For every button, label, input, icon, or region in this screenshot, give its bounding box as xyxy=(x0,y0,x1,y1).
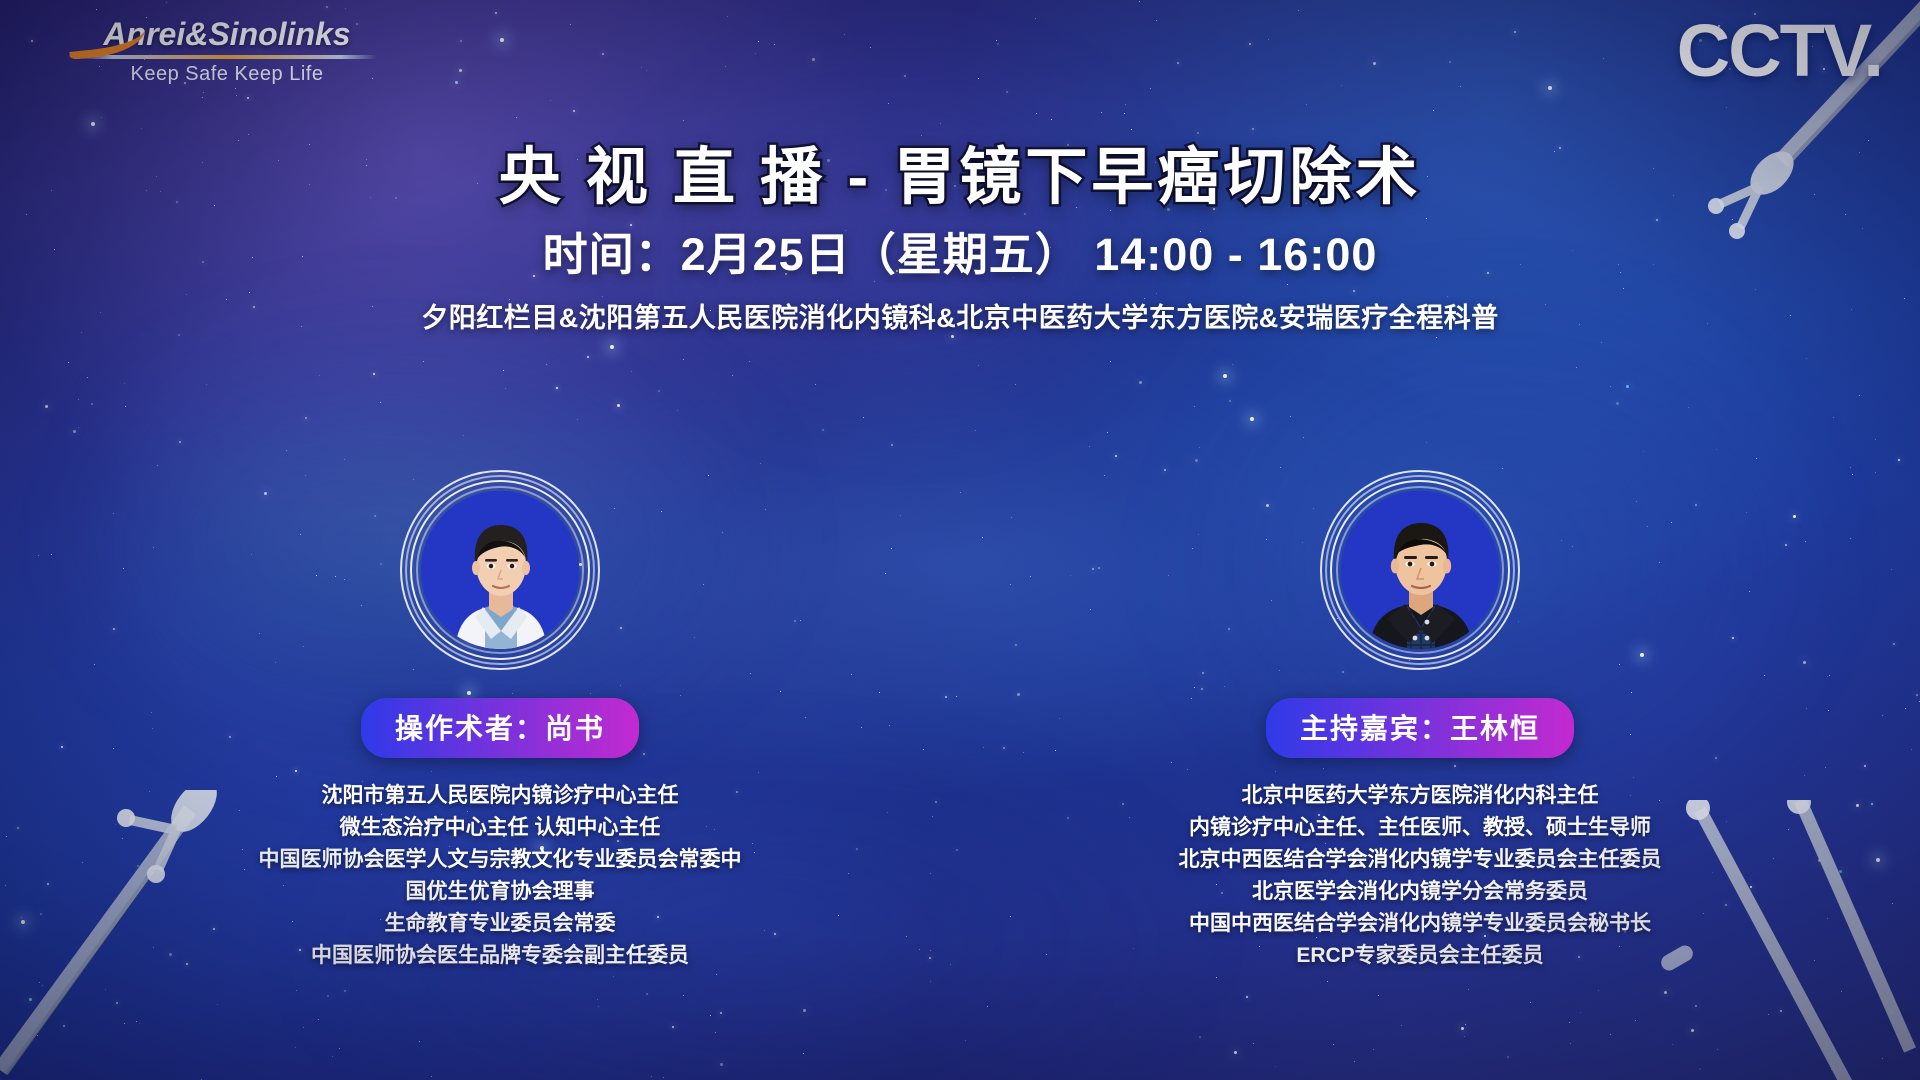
avatar xyxy=(400,470,600,670)
person-card-operator: 操作术者：尚书 沈阳市第五人民医院内镜诊疗中心主任 微生态治疗中心主任 认知中心… xyxy=(190,470,810,971)
anrei-sinolinks-logo: Anrei&Sinolinks Keep Safe Keep Life xyxy=(72,18,382,86)
event-time: 时间：2月25日（星期五） 14:00 - 16:00 xyxy=(0,218,1920,283)
portrait-illustration-host xyxy=(1341,491,1499,649)
credential-item: ERCP专家委员会主任委员 xyxy=(1110,940,1730,972)
credential-item: 微生态治疗中心主任 认知中心主任 xyxy=(190,812,810,844)
logo-divider xyxy=(77,55,377,59)
status-badge-host: 主持嘉宾：王林恒 xyxy=(1266,698,1574,758)
credential-item: 内镜诊疗中心主任、主任医师、教授、硕士生导师 xyxy=(1110,812,1730,844)
logo-tagline: Keep Safe Keep Life xyxy=(72,63,382,86)
credential-item: 北京中西医结合学会消化内镜学专业委员会主任委员 xyxy=(1110,844,1730,876)
credential-item: 生命教育专业委员会常委 xyxy=(190,908,810,940)
person-card-host: 主持嘉宾：王林恒 北京中医药大学东方医院消化内科主任 内镜诊疗中心主任、主任医师… xyxy=(1110,470,1730,971)
credential-item: 中国医师协会医生品牌专委会副主任委员 xyxy=(190,940,810,972)
page-title: 央 视 直 播 - 胃镜下早癌切除术 xyxy=(0,126,1920,216)
avatar-photo-host xyxy=(1341,491,1499,649)
avatar xyxy=(1320,470,1520,670)
portrait-illustration-operator xyxy=(421,491,579,649)
credential-item: 北京中医药大学东方医院消化内科主任 xyxy=(1110,780,1730,812)
credential-item: 中国中西医结合学会消化内镜学专业委员会秘书长 xyxy=(1110,908,1730,940)
status-badge-operator: 操作术者：尚书 xyxy=(361,698,639,758)
credential-list-operator: 沈阳市第五人民医院内镜诊疗中心主任 微生态治疗中心主任 认知中心主任 中国医师协… xyxy=(190,780,810,971)
credential-item: 国优生优育协会理事 xyxy=(190,876,810,908)
credential-item: 中国医师协会医学人文与宗教文化专业委员会常委中 xyxy=(190,844,810,876)
credential-item: 北京医学会消化内镜学分会常务委员 xyxy=(1110,876,1730,908)
poster-root: Anrei&Sinolinks Keep Safe Keep Life CCTV… xyxy=(0,0,1920,1080)
cctv-logo: CCTV. xyxy=(1677,14,1882,88)
event-subtitle: 夕阳红栏目&沈阳第五人民医院消化内镜科&北京中医药大学东方医院&安瑞医疗全程科普 xyxy=(0,296,1920,335)
credential-list-host: 北京中医药大学东方医院消化内科主任 内镜诊疗中心主任、主任医师、教授、硕士生导师… xyxy=(1110,780,1730,971)
avatar-photo-operator xyxy=(421,491,579,649)
credential-item: 沈阳市第五人民医院内镜诊疗中心主任 xyxy=(190,780,810,812)
